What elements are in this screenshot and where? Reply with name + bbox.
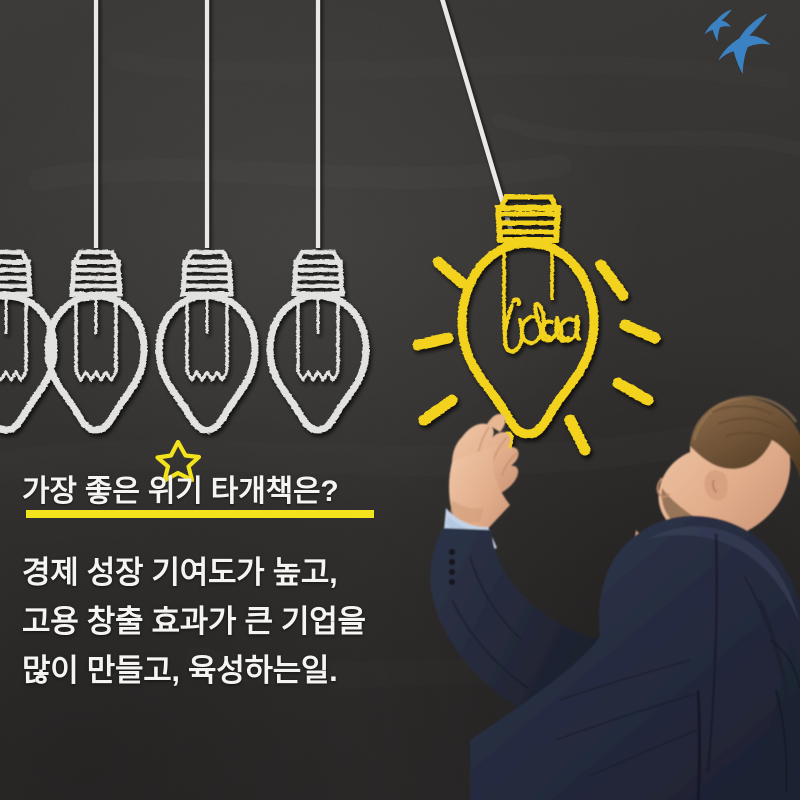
- body-line: 많이 만들고, 육성하는일.: [22, 646, 492, 695]
- headline-underline: [26, 510, 374, 518]
- two-birds-logo[interactable]: [704, 6, 786, 86]
- body-copy: 경제 성장 기여도가 높고, 고용 창출 효과가 큰 기업을 많이 만들고, 육…: [22, 548, 492, 695]
- body-line: 경제 성장 기여도가 높고,: [22, 548, 492, 597]
- copy-block: 가장 좋은 위기 타개책은? 경제 성장 기여도가 높고, 고용 창출 효과가 …: [22, 466, 492, 695]
- bird-icon: [704, 10, 770, 75]
- body-line: 고용 창출 효과가 큰 기업을: [22, 597, 492, 646]
- poster-canvas: 가장 좋은 위기 타개책은? 경제 성장 기여도가 높고, 고용 창출 효과가 …: [0, 0, 800, 800]
- headline-row: 가장 좋은 위기 타개책은?: [22, 466, 492, 514]
- page-headline: 가장 좋은 위기 타개책은?: [22, 466, 339, 510]
